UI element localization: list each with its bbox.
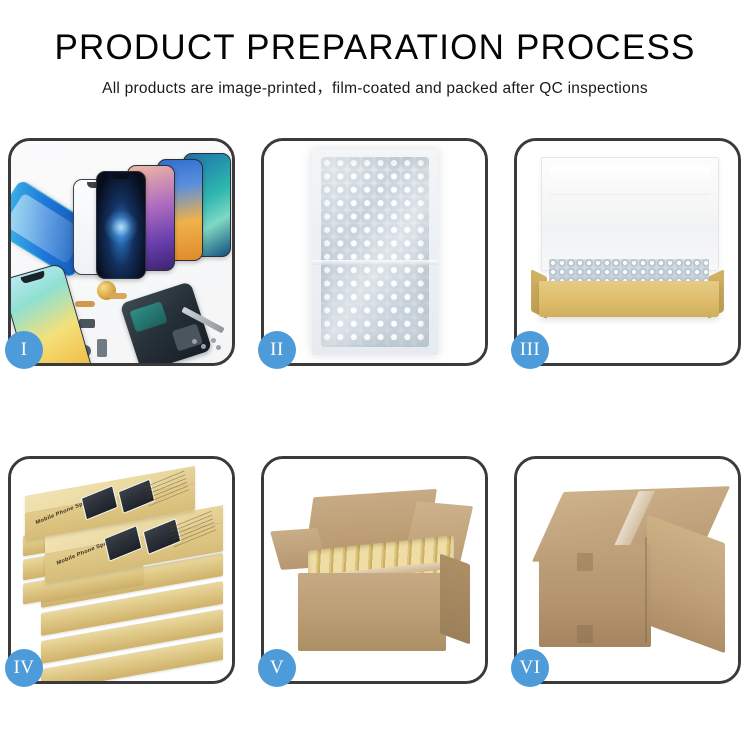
dark-phone-screen-icon (96, 171, 146, 279)
carton-handle-notch (577, 553, 593, 571)
sealed-carton-icon (535, 489, 727, 657)
white-box-lid-icon (541, 157, 719, 271)
step-6-image (517, 459, 738, 681)
process-step-panel-6: VI (514, 456, 741, 684)
bubble-wrap-icon (312, 149, 438, 355)
wrap-seam (312, 260, 438, 265)
step-4-image: Mobile Phone Spare Parts Mobile Phone Sp… (11, 459, 232, 681)
carton-side-face (440, 554, 470, 645)
step-badge-5: V (258, 649, 296, 687)
process-step-panel-3: III (514, 138, 741, 366)
page-title: PRODUCT PREPARATION PROCESS (0, 30, 750, 67)
step-badge-1: I (5, 331, 43, 369)
step-1-image (11, 141, 232, 363)
process-step-panel-4: Mobile Phone Spare Parts Mobile Phone Sp… (8, 456, 235, 684)
step-badge-2: II (258, 331, 296, 369)
step-5-image (264, 459, 485, 681)
process-steps-grid: I II III (8, 138, 742, 684)
page-header: PRODUCT PREPARATION PROCESS All products… (0, 0, 750, 98)
carton-front-face (298, 573, 446, 651)
spare-part-icon (79, 319, 95, 328)
product-preparation-process-page: PRODUCT PREPARATION PROCESS All products… (0, 0, 750, 750)
carton-front-face (539, 545, 651, 647)
open-carton-icon (280, 487, 472, 657)
step-badge-3: III (511, 331, 549, 369)
stacked-boxes-icon: Mobile Phone Spare Parts Mobile Phone Sp… (17, 473, 232, 673)
page-subtitle: All products are image-printed，film-coat… (0, 76, 750, 98)
bubble-pattern (321, 157, 429, 347)
carton-edge-seam (645, 537, 647, 643)
spare-part-icon (97, 339, 107, 357)
carton-right-face (647, 515, 725, 653)
flex-cable-icon (109, 293, 127, 299)
flex-cable-icon (75, 301, 95, 307)
process-step-panel-2: II (261, 138, 488, 366)
screws-icon (192, 337, 222, 351)
step-3-image (517, 141, 738, 363)
step-2-image (264, 141, 485, 363)
step-badge-4: IV (5, 649, 43, 687)
step-badge-6: VI (511, 649, 549, 687)
carton-handle-notch (577, 625, 593, 643)
process-step-panel-5: V (261, 456, 488, 684)
process-step-panel-1: I (8, 138, 235, 366)
kraft-box-front-icon (539, 281, 719, 317)
